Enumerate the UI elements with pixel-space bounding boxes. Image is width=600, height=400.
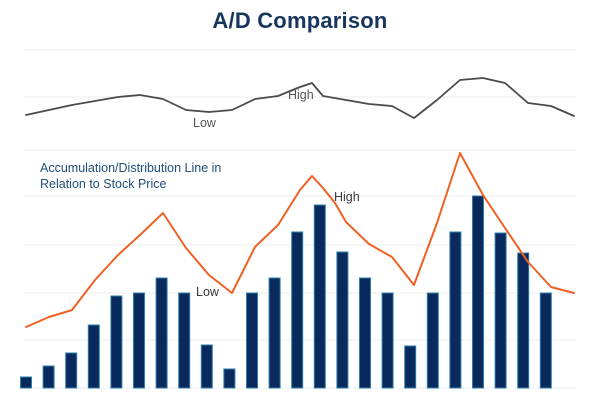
bar-23 — [518, 253, 529, 388]
bar-11 — [247, 293, 258, 388]
bar-16 — [360, 278, 371, 388]
bar-21 — [473, 196, 484, 388]
main-panel-subtitle: Accumulation/Distribution Line in Relati… — [40, 160, 310, 192]
bar-14 — [314, 205, 325, 388]
subtitle-line-2: Relation to Stock Price — [40, 176, 310, 192]
subtitle-line-1: Accumulation/Distribution Line in — [40, 161, 221, 175]
ad-comparison-chart: A/D Comparison Accumulation/Distribution… — [0, 0, 600, 400]
bar-6 — [134, 293, 145, 388]
bar-13 — [292, 232, 303, 388]
bar-10 — [224, 369, 235, 388]
bar-9 — [201, 345, 212, 388]
main-panel-low-label: Low — [196, 285, 219, 299]
bar-20 — [450, 232, 461, 388]
bar-22 — [495, 233, 506, 388]
top-panel-high-label: High — [288, 88, 314, 102]
bar-series — [21, 196, 552, 388]
bar-17 — [382, 293, 393, 388]
bar-24 — [540, 293, 551, 388]
bar-15 — [337, 252, 348, 388]
bar-12 — [269, 278, 280, 388]
bar-1 — [21, 377, 32, 388]
bar-8 — [179, 293, 190, 388]
bar-2 — [43, 366, 54, 388]
bar-19 — [427, 293, 438, 388]
bar-3 — [66, 353, 77, 388]
chart-canvas — [0, 0, 600, 400]
bar-4 — [88, 325, 99, 388]
main-panel-high-label: High — [334, 190, 360, 204]
bar-18 — [405, 346, 416, 388]
bar-5 — [111, 296, 122, 388]
top-panel-low-label: Low — [193, 116, 216, 130]
bar-7 — [156, 278, 167, 388]
